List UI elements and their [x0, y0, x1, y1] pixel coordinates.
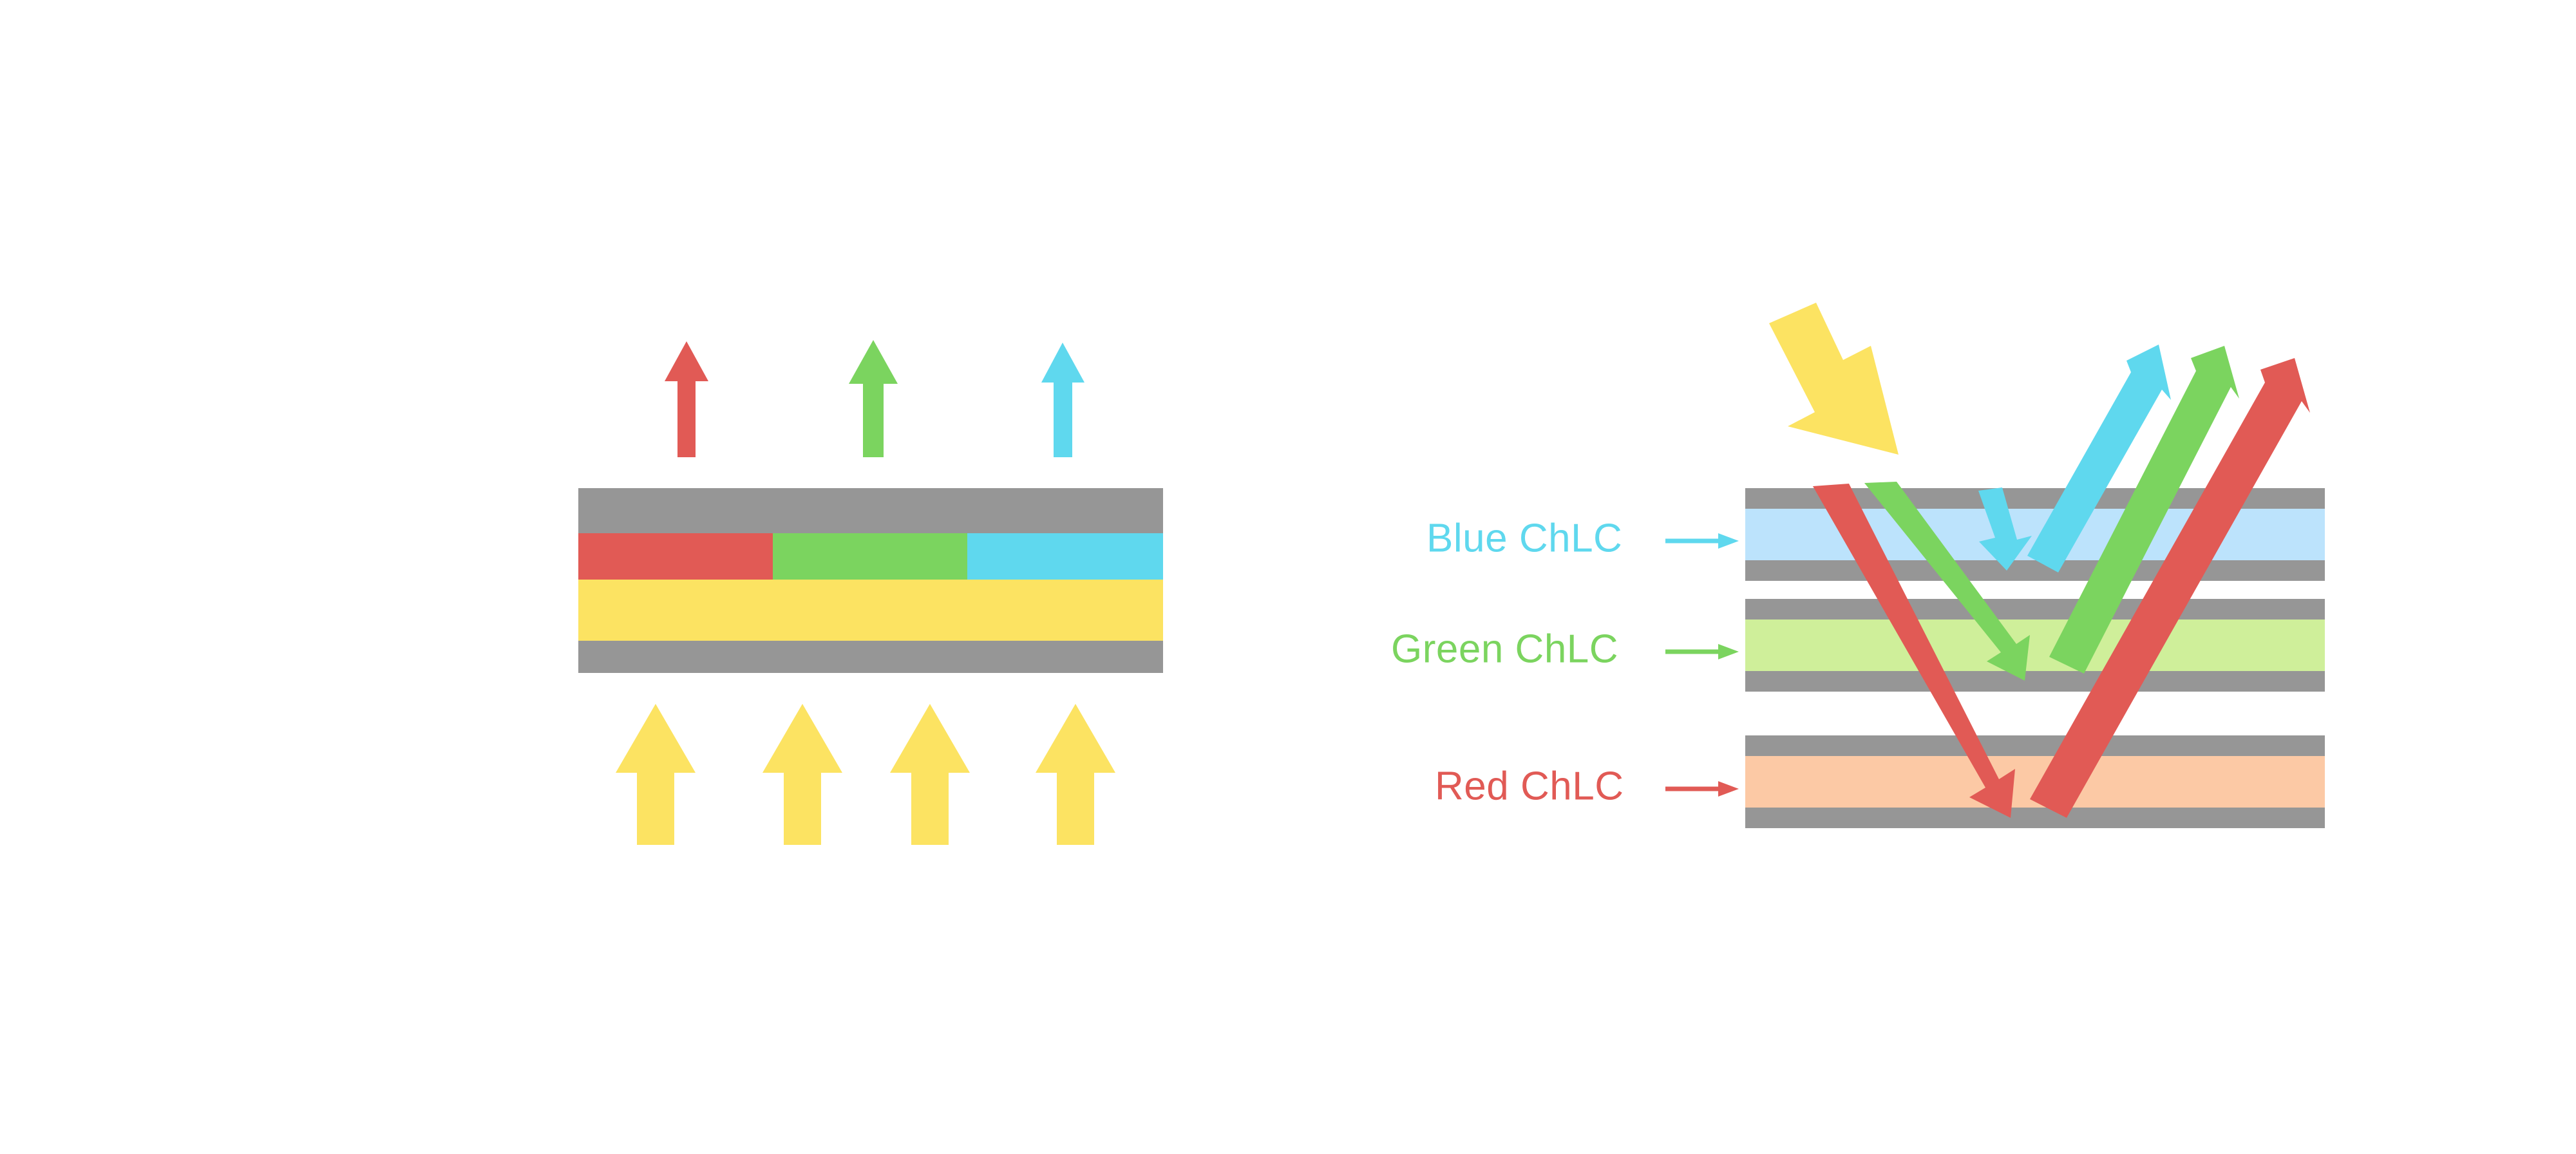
emitted-ray-green-arrow — [849, 340, 898, 457]
diagram-svg: Blue ChLC Green ChLC Red ChLC — [0, 0, 2576, 1154]
left-filter-green — [773, 533, 967, 580]
cell-green-top-electrode — [1745, 599, 2325, 620]
left-filter-red — [578, 533, 773, 580]
cell-green-lc-layer — [1745, 620, 2325, 671]
label-green-chlc-pointer-icon — [1665, 644, 1739, 659]
label-green-chlc: Green ChLC — [1391, 627, 1739, 671]
left-backlight-layer — [578, 580, 1163, 641]
emitted-ray-green — [849, 340, 898, 457]
label-red-chlc-pointer-icon — [1665, 781, 1739, 797]
right-panel: Blue ChLC Green ChLC Red ChLC — [1391, 303, 2325, 828]
left-bottom-electrode — [578, 641, 1163, 673]
left-panel — [578, 340, 1163, 845]
ambient-light-arrow — [1769, 303, 1899, 455]
backlight-ray-3 — [890, 704, 970, 845]
label-blue-chlc-text: Blue ChLC — [1426, 516, 1622, 560]
label-red-chlc-text: Red ChLC — [1435, 764, 1624, 808]
label-blue-chlc-pointer-icon — [1665, 533, 1739, 549]
emitted-ray-red-arrow — [665, 341, 708, 457]
backlight-rays — [616, 704, 1115, 845]
backlight-ray-2 — [762, 704, 842, 845]
backlight-ray-4 — [1036, 704, 1115, 845]
emitted-ray-blue-arrow — [1041, 343, 1084, 457]
cell-green-bottom-electrode — [1745, 671, 2325, 692]
left-top-electrode — [578, 488, 1163, 533]
diagram-canvas: Blue ChLC Green ChLC Red ChLC — [0, 0, 2576, 1154]
cell-red-top-electrode — [1745, 735, 2325, 756]
backlight-ray-1 — [616, 704, 696, 845]
label-blue-chlc: Blue ChLC — [1426, 516, 1739, 560]
cell-red-bottom-electrode — [1745, 808, 2325, 828]
label-green-chlc-text: Green ChLC — [1391, 627, 1618, 671]
cell-blue-bottom-electrode — [1745, 560, 2325, 581]
emitted-ray-blue — [1041, 343, 1084, 457]
emitted-ray-red — [665, 341, 708, 457]
label-red-chlc: Red ChLC — [1435, 764, 1739, 808]
left-filter-blue — [967, 533, 1163, 580]
